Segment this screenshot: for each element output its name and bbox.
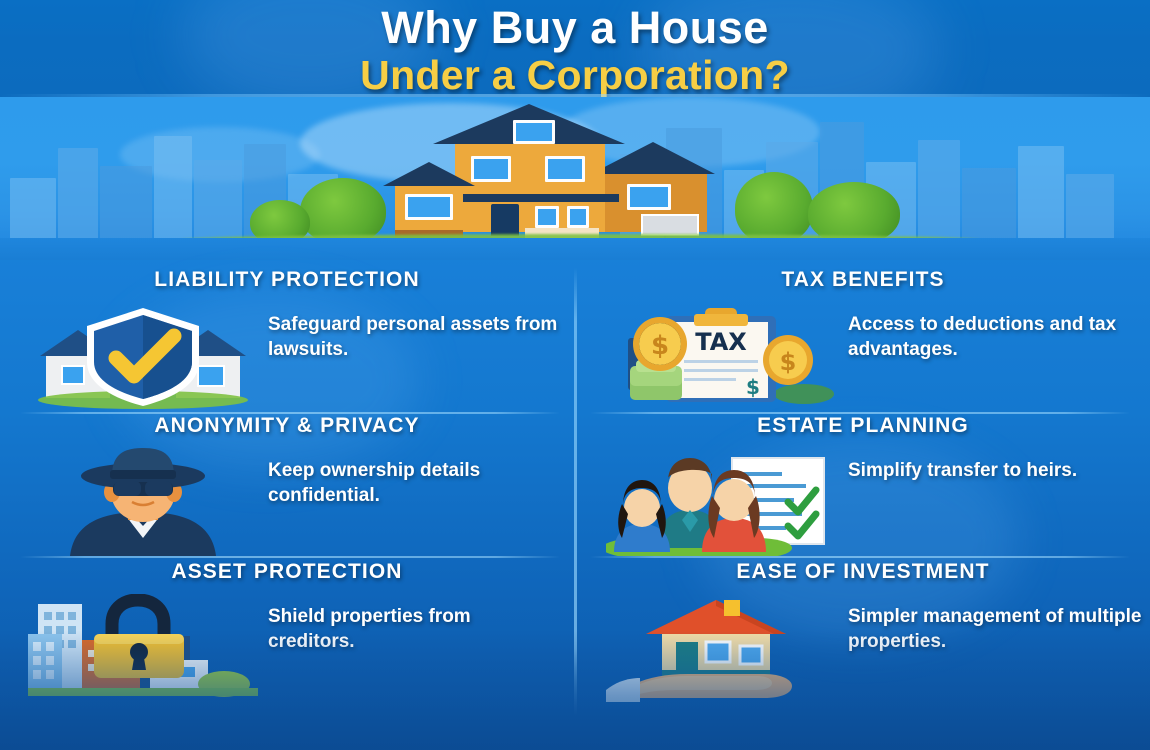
benefit-description: Simpler management of multiple propertie… xyxy=(848,604,1143,654)
page-subtitle: Under a Corporation? xyxy=(0,53,1150,97)
svg-text:$: $ xyxy=(780,348,797,376)
benefit-description: Keep ownership details confidential. xyxy=(268,458,558,508)
infographic-poster: Why Buy a House Under a Corporation? xyxy=(0,0,1150,750)
benefit-item-anonymity-privacy[interactable]: ANONYMITY & PRIVACY xyxy=(0,414,574,560)
skyline-building xyxy=(154,136,192,240)
skyline-building xyxy=(918,140,960,240)
skyline-building xyxy=(10,178,56,240)
hero-ground xyxy=(0,238,1150,260)
skyline-building xyxy=(194,160,242,240)
padlock-over-buildings-icon xyxy=(28,594,258,702)
benefit-item-asset-protection[interactable]: ASSET PROTECTION xyxy=(0,560,574,706)
benefit-title: ASSET PROTECTION xyxy=(0,560,574,584)
skyline-building xyxy=(1066,174,1114,240)
benefit-title: ANONYMITY & PRIVACY xyxy=(0,414,574,438)
hero-illustration xyxy=(0,97,1150,260)
benefit-title: ESTATE PLANNING xyxy=(576,414,1150,438)
skyline-building xyxy=(58,148,98,240)
benefit-item-estate-planning[interactable]: ESTATE PLANNING xyxy=(576,414,1150,560)
tree-icon xyxy=(735,172,813,244)
skyline-building xyxy=(100,166,152,240)
benefit-description: Access to deductions and tax advantages. xyxy=(848,312,1143,362)
benefit-description: Safeguard personal assets from lawsuits. xyxy=(268,312,558,362)
svg-text:TAX: TAX xyxy=(695,328,747,356)
skyline-building xyxy=(962,168,1016,240)
page-title: Why Buy a House xyxy=(0,3,1150,53)
benefit-item-liability-protection[interactable]: LIABILITY PROTECTION xyxy=(0,268,574,414)
benefit-description: Shield properties from creditors. xyxy=(268,604,558,654)
benefit-title: LIABILITY PROTECTION xyxy=(0,268,574,292)
benefit-description: Simplify transfer to heirs. xyxy=(848,458,1143,483)
poster-header: Why Buy a House Under a Corporation? xyxy=(0,0,1150,97)
skyline-building xyxy=(1018,146,1064,240)
shield-check-over-house-icon xyxy=(28,302,258,410)
benefit-title: TAX BENEFITS xyxy=(576,268,1150,292)
family-with-checklist-document-icon xyxy=(606,448,836,556)
incognito-person-hat-sunglasses-icon xyxy=(28,448,258,556)
svg-text:$: $ xyxy=(746,375,760,399)
benefit-item-tax-benefits[interactable]: TAX BENEFITS TAX $ xyxy=(576,268,1150,414)
tax-clipboard-with-coins-icon: TAX $ $ $ xyxy=(606,302,836,410)
benefit-title: EASE OF INVESTMENT xyxy=(576,560,1150,584)
hero-house-icon xyxy=(395,106,725,246)
svg-text:$: $ xyxy=(651,331,669,361)
hand-holding-house-icon xyxy=(606,594,836,702)
benefit-item-ease-of-investment[interactable]: EASE OF INVESTMENT xyxy=(576,560,1150,706)
benefits-grid: LIABILITY PROTECTION xyxy=(0,260,1150,750)
